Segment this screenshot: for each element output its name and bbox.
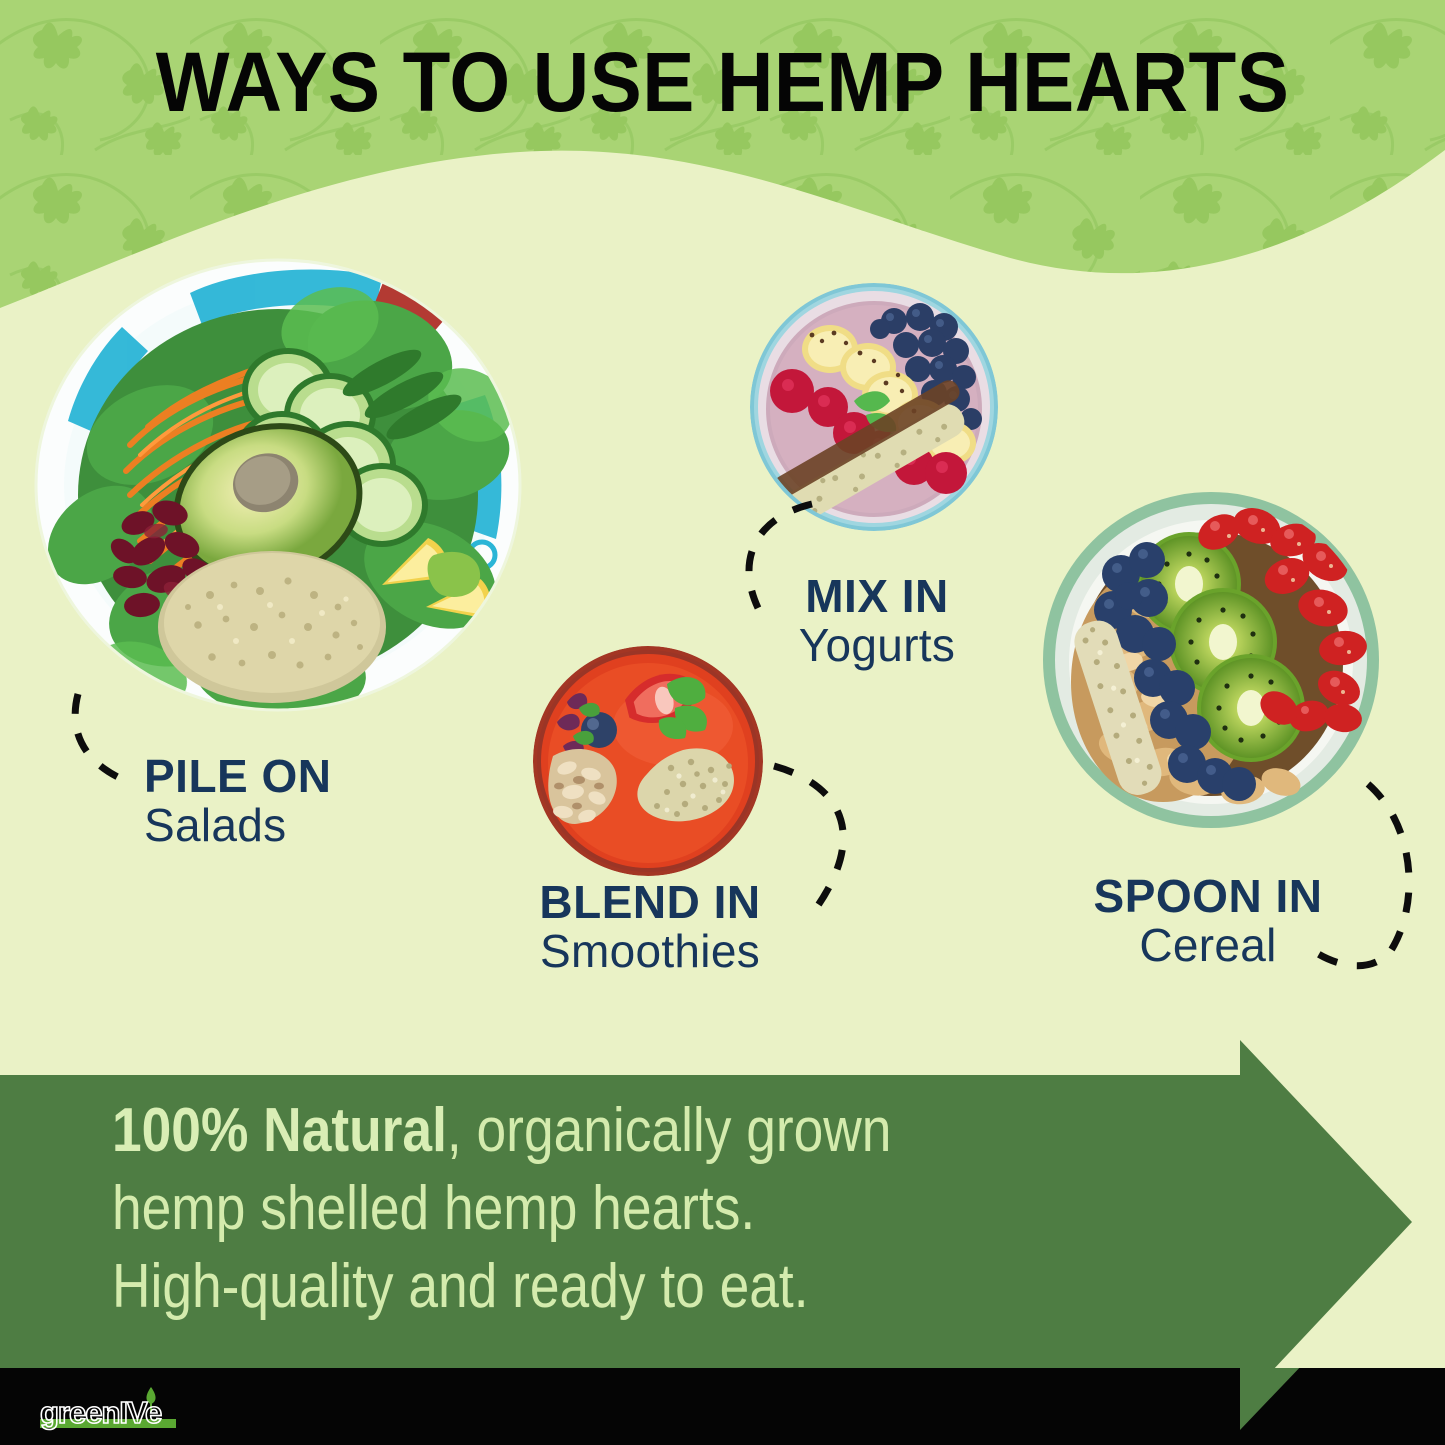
footer-arrow-tip — [1180, 1368, 1445, 1445]
banner-line-1: 100% Natural, organically grown — [112, 1092, 1049, 1170]
bottom-banner: 100% Natural, organically grown hemp she… — [0, 1030, 1445, 1330]
callout-yogurts-line1: MIX IN — [752, 572, 1002, 621]
salad-plate-photo — [30, 255, 530, 715]
banner-bold: 100% Natural — [112, 1096, 447, 1165]
callout-yogurts-line2: Yogurts — [752, 621, 1002, 670]
brand-logo: greenIVe — [38, 1385, 228, 1433]
callout-salads-line1: PILE ON — [144, 752, 332, 801]
cereal-bowl-photo — [1043, 492, 1379, 828]
banner-rest-1: , organically grown — [447, 1096, 892, 1165]
callout-cereal-line2: Cereal — [1068, 921, 1348, 970]
callout-smoothies-line1: BLEND IN — [500, 878, 800, 927]
callout-smoothies-line2: Smoothies — [500, 927, 800, 976]
banner-line-3: High-quality and ready to eat. — [112, 1248, 1049, 1326]
logo-wordmark: greenIVe — [40, 1395, 162, 1430]
yogurt-bowl-photo — [750, 283, 998, 531]
callout-smoothies: BLEND IN Smoothies — [500, 878, 800, 976]
smoothie-glass-photo — [533, 646, 763, 876]
infographic-poster: WAYS TO USE HEMP HEARTS — [0, 0, 1445, 1445]
callout-yogurts: MIX IN Yogurts — [752, 572, 1002, 670]
banner-copy: 100% Natural, organically grown hemp she… — [112, 1092, 1049, 1326]
banner-line-2: hemp shelled hemp hearts. — [112, 1170, 1049, 1248]
page-title: WAYS TO USE HEMP HEARTS — [51, 34, 1395, 131]
callout-salads-line2: Salads — [144, 801, 332, 850]
callout-cereal-line1: SPOON IN — [1068, 872, 1348, 921]
callout-salads: PILE ON Salads — [144, 752, 332, 850]
callout-cereal: SPOON IN Cereal — [1068, 872, 1348, 970]
